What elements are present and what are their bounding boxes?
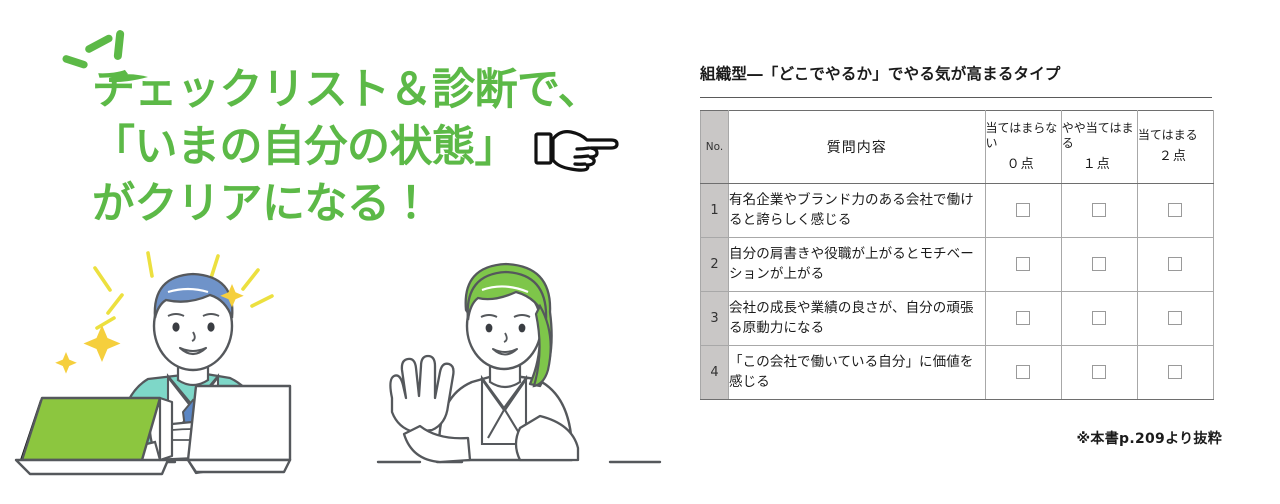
- table-row: 2 自分の肩書きや役職が上がるとモチベーションが上がる: [701, 238, 1214, 292]
- header-question: 質問内容: [729, 111, 986, 184]
- checkbox-unchecked-icon[interactable]: [1168, 365, 1182, 379]
- woman-laptop: [16, 398, 172, 474]
- checkbox-cell-1[interactable]: [1061, 184, 1137, 238]
- checkbox-unchecked-icon[interactable]: [1092, 365, 1106, 379]
- headline-line-2-row: 「いまの自分の状態」: [92, 119, 672, 176]
- checkbox-unchecked-icon[interactable]: [1016, 203, 1030, 217]
- row-number: 4: [701, 346, 729, 400]
- checkbox-cell-1[interactable]: [1061, 346, 1137, 400]
- title-divider: [700, 97, 1212, 98]
- headline-line-1: チェックリスト＆診断で、: [92, 62, 672, 119]
- header-score-0-label: 当てはまらない: [986, 121, 1058, 150]
- row-question: 「この会社で働いている自分」に価値を感じる: [729, 346, 986, 400]
- checklist-panel: 組織型―「どこでやるか」でやる気が高まるタイプ No. 質問内容 当てはまらない…: [698, 0, 1280, 504]
- promotional-banner: チェックリスト＆診断で、 「いまの自分の状態」 がクリアになる！: [0, 0, 1280, 504]
- pointing-hand-right-icon: [533, 123, 619, 173]
- table-row: 1 有名企業やブランド力のある会社で働けると誇らしく感じる: [701, 184, 1214, 238]
- header-score-2-label: 当てはまる: [1138, 128, 1198, 142]
- checkbox-cell-1[interactable]: [1061, 238, 1137, 292]
- checkbox-unchecked-icon[interactable]: [1092, 311, 1106, 325]
- checkbox-cell-2[interactable]: [1137, 238, 1213, 292]
- checkbox-cell-2[interactable]: [1137, 346, 1213, 400]
- header-score-1-points: １点: [1062, 157, 1137, 173]
- checkbox-cell-0[interactable]: [985, 238, 1061, 292]
- header-score-1-label: やや当てはまる: [1062, 121, 1134, 150]
- row-number: 2: [701, 238, 729, 292]
- table-row: 3 会社の成長や業績の良さが、自分の頑張る原動力になる: [701, 292, 1214, 346]
- source-note: ※本書p.209より抜粋: [1077, 428, 1223, 448]
- row-question: 有名企業やブランド力のある会社で働けると誇らしく感じる: [729, 184, 986, 238]
- row-question: 自分の肩書きや役職が上がるとモチベーションが上がる: [729, 238, 986, 292]
- header-score-0: 当てはまらない ０点: [985, 111, 1061, 184]
- headline-panel: チェックリスト＆診断で、 「いまの自分の状態」 がクリアになる！: [0, 0, 690, 504]
- checkbox-unchecked-icon[interactable]: [1092, 257, 1106, 271]
- headline-line-3: がクリアになる！: [92, 176, 672, 233]
- checkbox-unchecked-icon[interactable]: [1092, 203, 1106, 217]
- row-question: 会社の成長や業績の良さが、自分の頑張る原動力になる: [729, 292, 986, 346]
- table-row: 4 「この会社で働いている自分」に価値を感じる: [701, 346, 1214, 400]
- smiling-woman-waving: [16, 264, 578, 474]
- checkbox-cell-1[interactable]: [1061, 292, 1137, 346]
- checkbox-cell-0[interactable]: [985, 292, 1061, 346]
- checkbox-unchecked-icon[interactable]: [1016, 311, 1030, 325]
- man-laptop: [188, 386, 290, 473]
- table-header-row: No. 質問内容 当てはまらない ０点 やや当てはまる １点 当てはまる ２点: [701, 111, 1214, 184]
- header-score-2: 当てはまる ２点: [1137, 111, 1213, 184]
- checkbox-unchecked-icon[interactable]: [1168, 203, 1182, 217]
- headline-line-2: 「いまの自分の状態」: [92, 119, 517, 176]
- header-no: No.: [701, 111, 729, 184]
- header-score-2-points: ２点: [1138, 149, 1213, 165]
- checkbox-cell-0[interactable]: [985, 184, 1061, 238]
- headline: チェックリスト＆診断で、 「いまの自分の状態」 がクリアになる！: [92, 62, 672, 234]
- business-people-illustration: [0, 248, 690, 504]
- header-score-0-points: ０点: [986, 157, 1061, 173]
- header-score-1: やや当てはまる １点: [1061, 111, 1137, 184]
- row-number: 3: [701, 292, 729, 346]
- checkbox-cell-2[interactable]: [1137, 292, 1213, 346]
- checkbox-unchecked-icon[interactable]: [1168, 311, 1182, 325]
- checkbox-unchecked-icon[interactable]: [1168, 257, 1182, 271]
- row-number: 1: [701, 184, 729, 238]
- checklist-table: No. 質問内容 当てはまらない ０点 やや当てはまる １点 当てはまる ２点: [700, 110, 1214, 400]
- checkbox-cell-0[interactable]: [985, 346, 1061, 400]
- table-title: 組織型―「どこでやるか」でやる気が高まるタイプ: [700, 62, 1061, 84]
- checkbox-cell-2[interactable]: [1137, 184, 1213, 238]
- checkbox-unchecked-icon[interactable]: [1016, 365, 1030, 379]
- checkbox-unchecked-icon[interactable]: [1016, 257, 1030, 271]
